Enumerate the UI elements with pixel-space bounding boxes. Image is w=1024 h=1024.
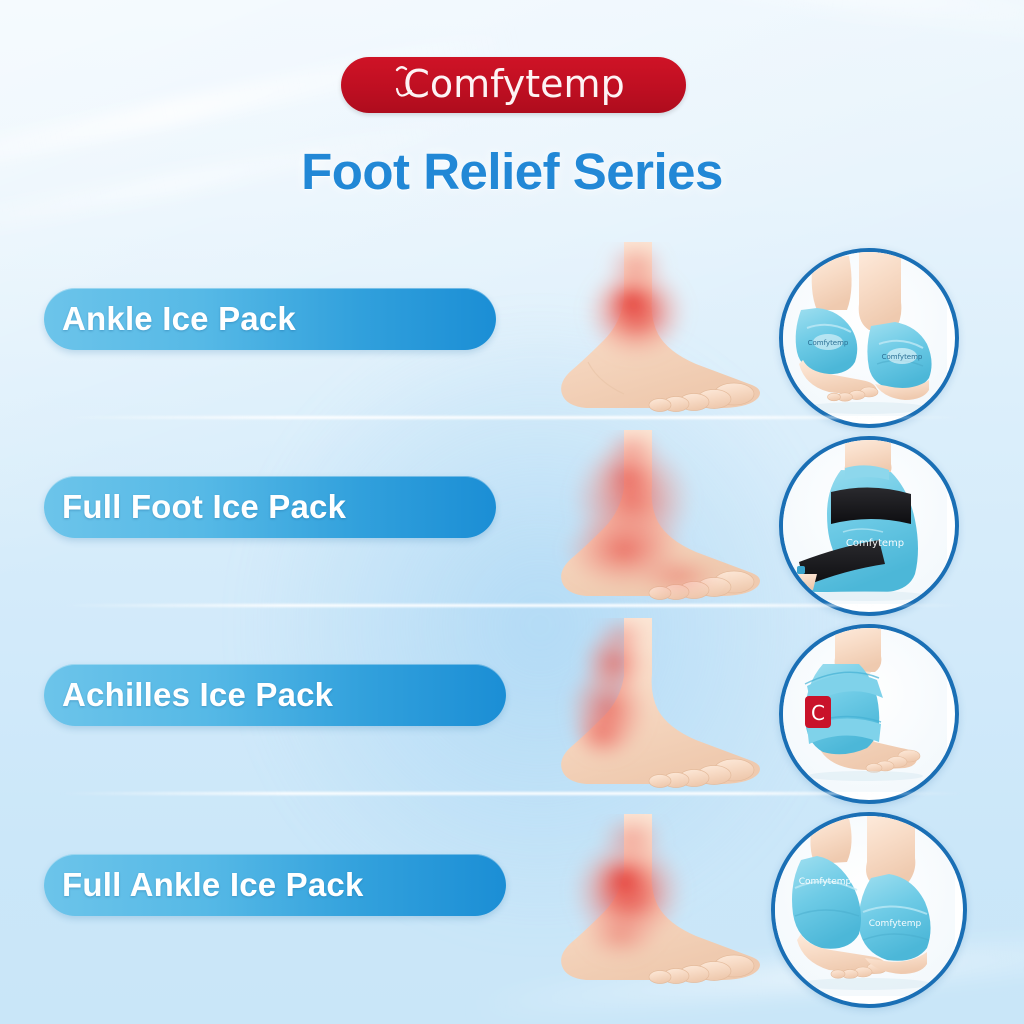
svg-text:Comfytemp: Comfytemp [799,877,852,887]
product-label: Full Ankle Ice Pack [44,866,364,904]
background-streak [521,0,1024,50]
svg-text:Comfytemp: Comfytemp [808,339,849,347]
row-divider [60,604,965,607]
product-row: Full Ankle Ice Pack [0,806,1024,996]
row-divider [60,416,965,419]
svg-text:C: C [811,701,825,725]
foot-illustration-ankle [528,242,778,422]
svg-text:Comfytemp: Comfytemp [882,353,923,361]
comfytemp-wordmark-icon: Comfytemp [364,61,664,109]
brand-patch-icon: C [805,696,831,728]
heat-zone [562,430,722,598]
product-row: Achilles Ice Pack [0,616,1024,806]
product-label: Achilles Ice Pack [44,676,333,714]
product-row: Ankle Ice Pack [0,240,1024,430]
product-pill-full-foot-ice-pack[interactable]: Full Foot Ice Pack [44,476,496,538]
product-label: Full Foot Ice Pack [44,488,346,526]
foot-illustration-full-ankle [528,814,778,997]
product-photo-ankle-ice-pack[interactable]: Comfytemp Comfytemp [779,248,959,428]
foot-illustration-achilles [528,618,778,798]
product-photo-full-ankle-ice-pack[interactable]: Comfytemp Comfytemp [771,812,967,1008]
product-photo-achilles-ice-pack[interactable]: C [779,624,959,804]
svg-text:Comfytemp: Comfytemp [846,538,904,549]
svg-text:Comfytemp: Comfytemp [869,919,922,929]
infographic-canvas: Comfytemp Comfytemp Foot Relief Series [0,0,1024,1024]
product-row: Full Foot Ice Pack [0,428,1024,618]
brand-logo: Comfytemp Comfytemp [341,57,686,113]
heat-zone [566,618,650,760]
foot-illustration-full-foot [528,430,778,610]
product-photo-full-foot-ice-pack[interactable]: Comfytemp [779,436,959,616]
row-divider [60,792,965,795]
svg-text:Comfytemp: Comfytemp [403,62,624,106]
product-pill-achilles-ice-pack[interactable]: Achilles Ice Pack [44,664,506,726]
product-pill-full-ankle-ice-pack[interactable]: Full Ankle Ice Pack [44,854,506,916]
page-title: Foot Relief Series [0,142,1024,201]
heat-zone [584,242,688,360]
product-pill-ankle-ice-pack[interactable]: Ankle Ice Pack [44,288,496,350]
product-label: Ankle Ice Pack [44,300,296,338]
